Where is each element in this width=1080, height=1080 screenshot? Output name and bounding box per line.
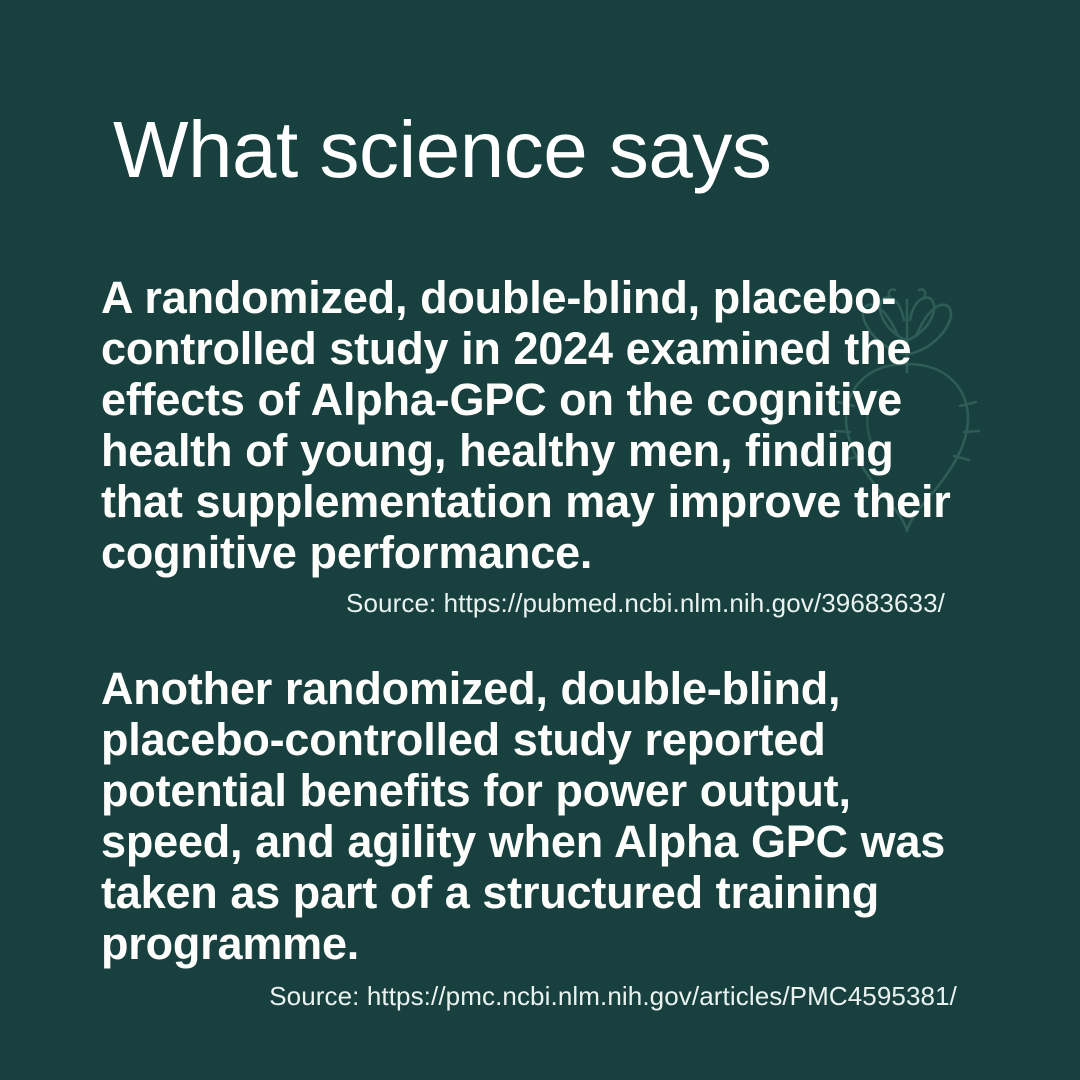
study-source-1: Source: https://pubmed.ncbi.nlm.nih.gov/… <box>101 586 987 620</box>
study-block-2: Another randomized, double-blind, placeb… <box>101 663 987 1013</box>
page-title: What science says <box>113 104 771 196</box>
study-body-1: A randomized, double-blind, placebo-cont… <box>101 272 987 578</box>
slide-canvas: What science says A randomized, double-b… <box>0 0 1080 1080</box>
study-source-2: Source: https://pmc.ncbi.nlm.nih.gov/art… <box>101 979 987 1013</box>
study-body-2: Another randomized, double-blind, placeb… <box>101 663 987 969</box>
study-block-1: A randomized, double-blind, placebo-cont… <box>101 272 987 620</box>
